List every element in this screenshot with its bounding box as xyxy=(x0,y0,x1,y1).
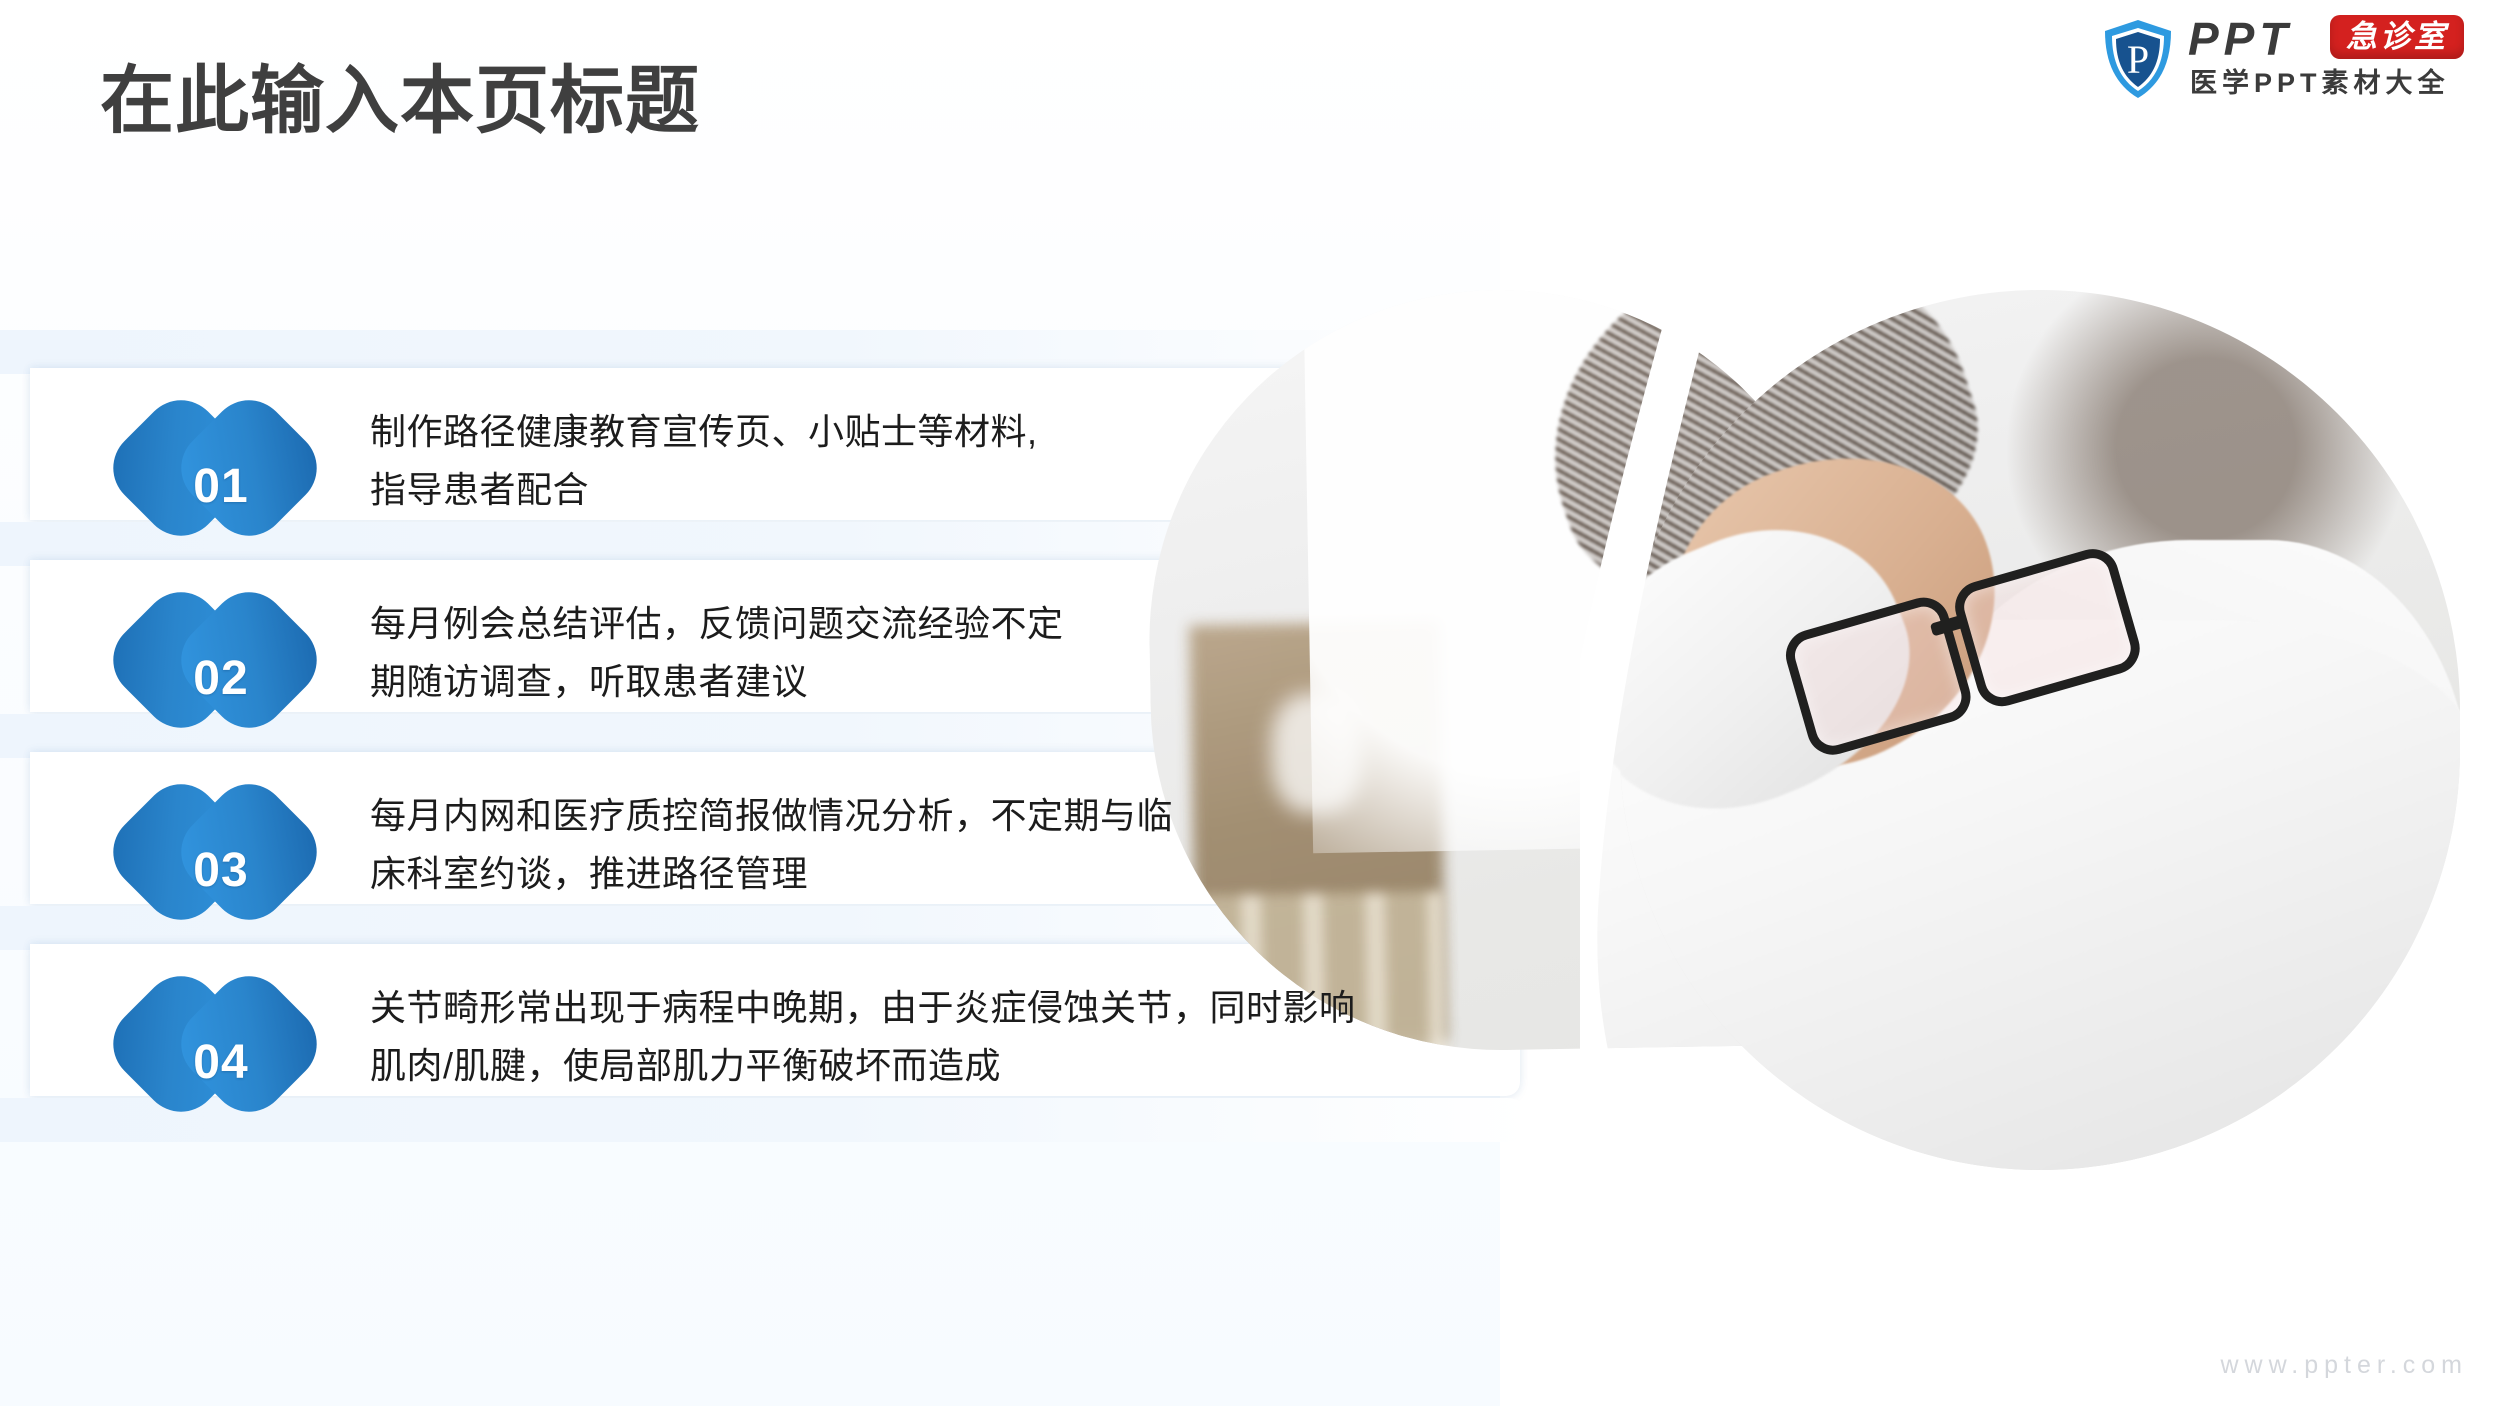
page-title: 在此输入本页标题 xyxy=(100,62,700,140)
item-text-line: 期随访调查，听取患者建议 xyxy=(370,653,1550,711)
item-text: 制作路径健康教育宣传页、小贴士等材料, 指导患者配合 xyxy=(370,403,1550,520)
item-number: 02 xyxy=(120,577,310,745)
heart-badge-icon: 03 xyxy=(120,769,310,937)
photo-image-right xyxy=(1620,290,2460,1170)
shield-icon: P xyxy=(2100,17,2176,101)
svg-text:P: P xyxy=(2127,37,2149,82)
item-text-line: 制作路径健康教育宣传页、小贴士等材料, xyxy=(370,403,1550,461)
item-number: 03 xyxy=(120,769,310,937)
logo-badge: 急诊室 xyxy=(2330,15,2464,59)
item-text-line: 床科室约谈，推进路径管理 xyxy=(370,845,1550,903)
heart-badge-icon: 02 xyxy=(120,577,310,745)
item-text-line: 每月内网和医疗质控简报做情况分析，不定期与临 xyxy=(370,787,1550,845)
photo-petal-right xyxy=(1620,290,2460,1170)
item-text: 关节畸形常出现于病程中晚期，由于炎症侵蚀关节，同时影响 肌肉/肌腱，使局部肌力平… xyxy=(370,979,1550,1096)
item-text-line: 关节畸形常出现于病程中晚期，由于炎症侵蚀关节，同时影响 xyxy=(370,979,1550,1037)
list-item[interactable]: 04 关节畸形常出现于病程中晚期，由于炎症侵蚀关节，同时影响 肌肉/肌腱，使局部… xyxy=(0,961,1560,1121)
list-item[interactable]: 01 制作路径健康教育宣传页、小贴士等材料, 指导患者配合 xyxy=(0,385,1560,545)
footer-watermark: www.ppter.com xyxy=(2220,1351,2468,1380)
item-text-line: 肌肉/肌腱，使局部肌力平衡破坏而造成 xyxy=(370,1037,1550,1095)
list-item[interactable]: 03 每月内网和医疗质控简报做情况分析，不定期与临 床科室约谈，推进路径管理 xyxy=(0,769,1560,929)
item-number: 04 xyxy=(120,961,310,1129)
item-text: 每月例会总结评估，反馈问题交流经验不定 期随访调查，听取患者建议 xyxy=(370,595,1550,712)
item-text: 每月内网和医疗质控简报做情况分析，不定期与临 床科室约谈，推进路径管理 xyxy=(370,787,1550,904)
logo-wordmark: PPT xyxy=(2188,16,2292,62)
logo-subtitle: 医学PPT素材大全 xyxy=(2190,70,2450,97)
heart-badge-icon: 01 xyxy=(120,385,310,553)
list-item[interactable]: 02 每月例会总结评估，反馈问题交流经验不定 期随访调查，听取患者建议 xyxy=(0,577,1560,737)
item-text-line: 指导患者配合 xyxy=(370,461,1550,519)
slide-canvas: 在此输入本页标题 P PPT 急诊室 医学PPT素材大全 01 制作路径健康教育… xyxy=(0,0,2500,1406)
heart-badge-icon: 04 xyxy=(120,961,310,1129)
item-number: 01 xyxy=(120,385,310,553)
brand-logo[interactable]: P PPT 急诊室 医学PPT素材大全 xyxy=(2100,14,2478,106)
item-text-line: 每月例会总结评估，反馈问题交流经验不定 xyxy=(370,595,1550,653)
